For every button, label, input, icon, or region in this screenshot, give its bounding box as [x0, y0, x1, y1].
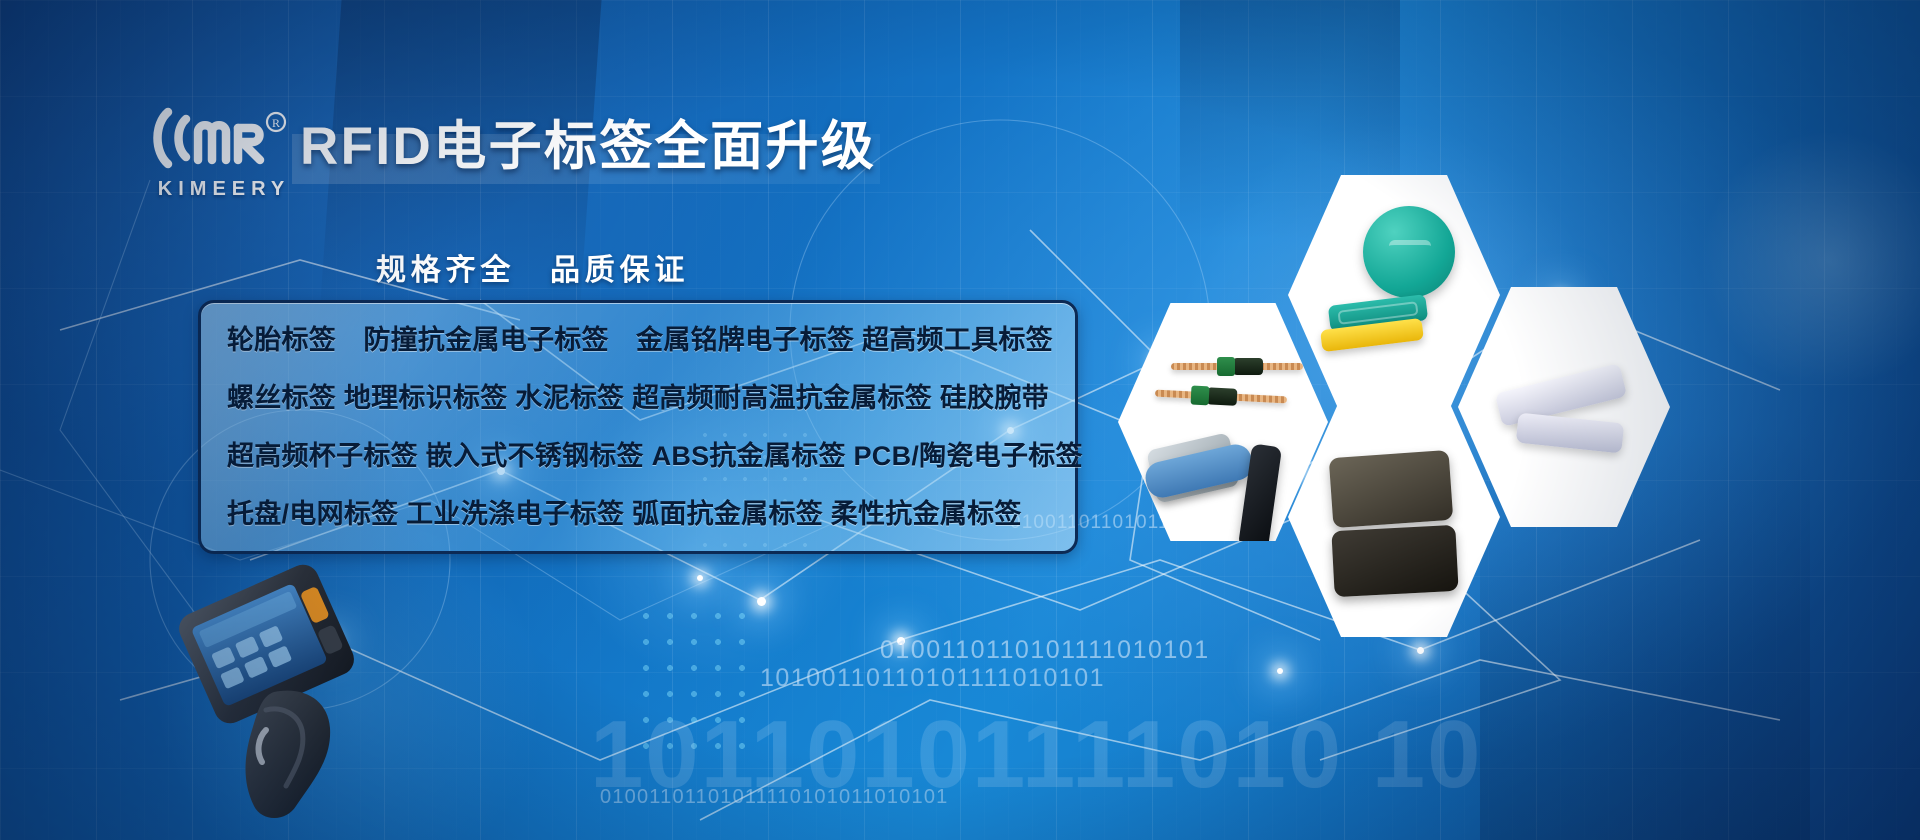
- vignette-overlay: [0, 0, 1920, 840]
- rfid-promo-banner: 010011011010111010101 010011011010111101…: [0, 0, 1920, 840]
